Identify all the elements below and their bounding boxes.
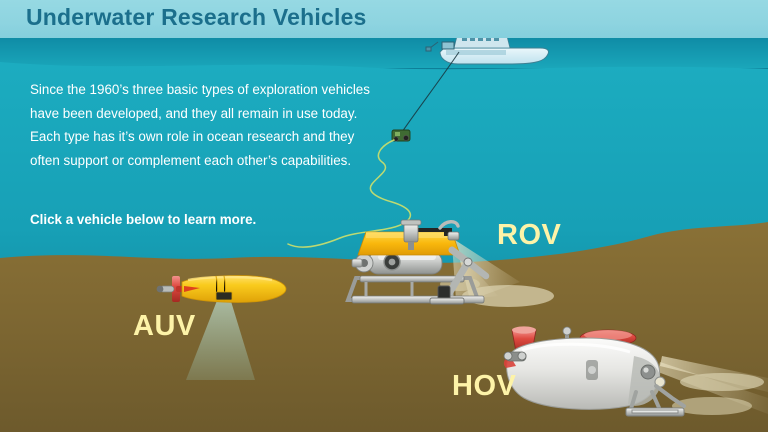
hov-viewport [641,365,655,379]
label-rov[interactable]: ROV [497,219,561,252]
ship-rail [446,50,506,55]
auv-propeller [157,286,174,293]
hov-front-thruster [504,352,526,361]
auv-sonar-window [216,292,232,300]
rov-camera [384,254,400,270]
intro-paragraph: Since the 1960’s three basic types of ex… [30,78,375,172]
infographic-canvas: Underwater Research Vehicles Since the 1… [0,0,768,432]
label-hov[interactable]: HOV [452,370,516,403]
clump-weight[interactable] [392,130,410,141]
call-to-action: Click a vehicle below to learn more. [30,212,256,227]
label-auv[interactable]: AUV [133,310,196,343]
hov-hatch-detail [586,360,598,380]
page-title: Underwater Research Vehicles [26,4,367,31]
hov-light-pool-1 [680,373,764,391]
water-surface-band [0,38,768,68]
